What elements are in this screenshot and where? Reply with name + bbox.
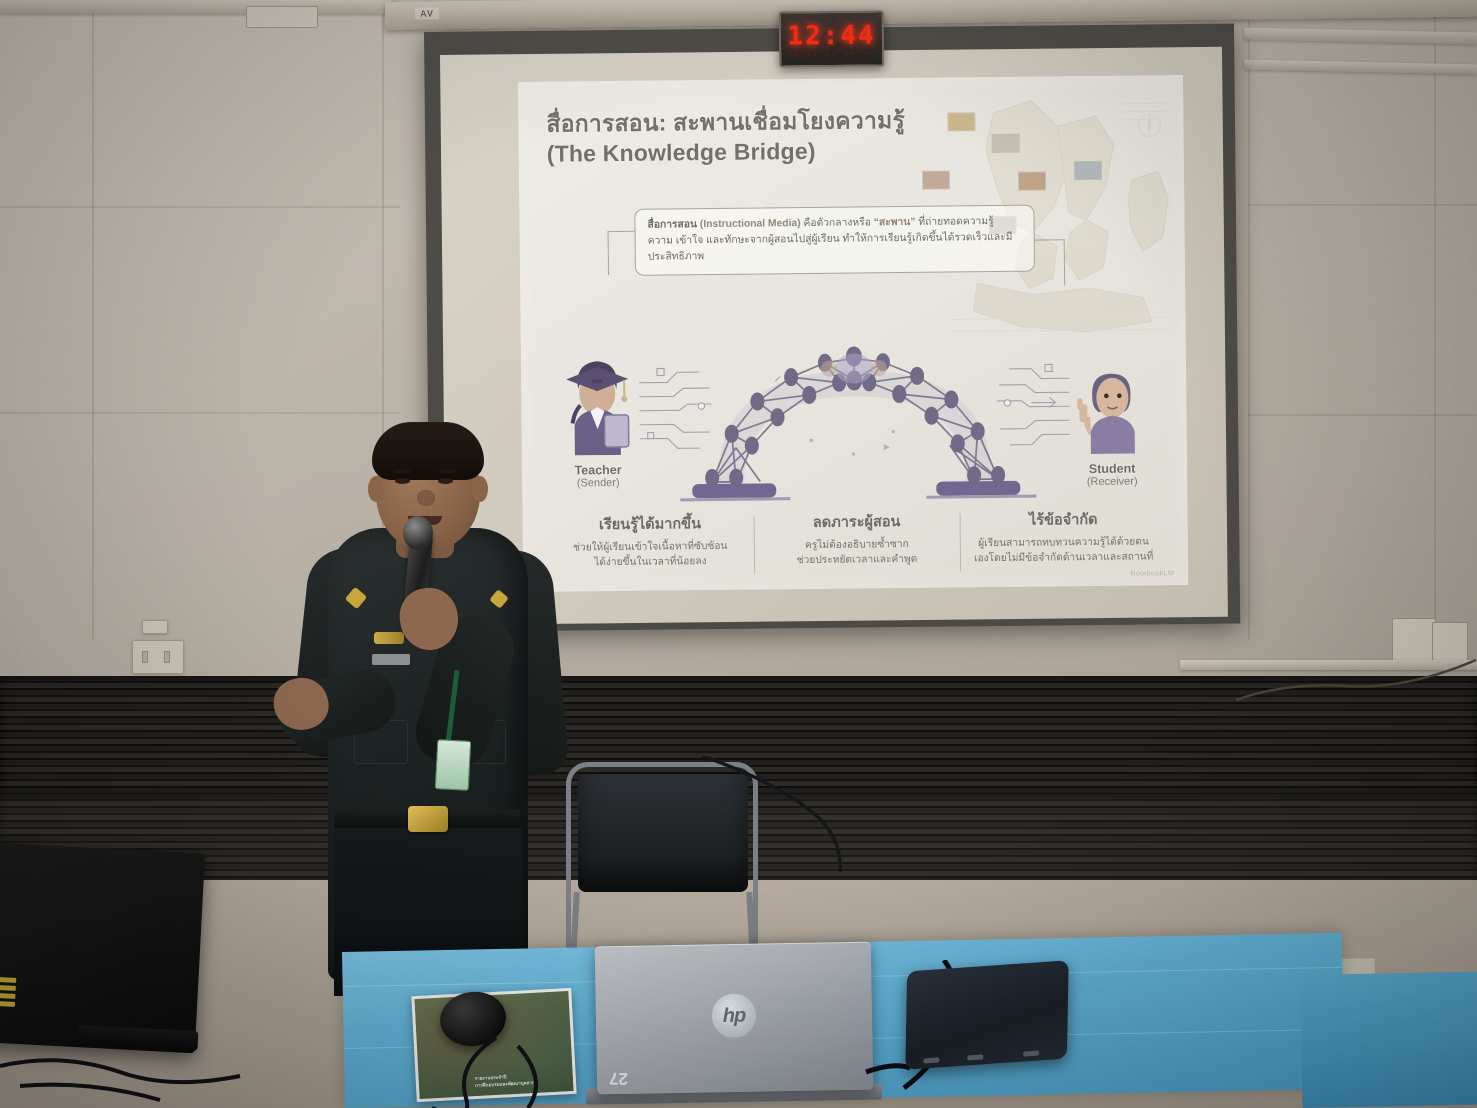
callout-term-en: (Instructional Media): [700, 218, 801, 230]
wall-cable: [1180, 646, 1477, 726]
monitor-control-buttons[interactable]: [0, 977, 20, 1018]
slide-watermark: NotebookLM: [1130, 570, 1174, 577]
wall-mount-box: [246, 6, 318, 28]
laptop-asset-number: 27: [609, 1068, 628, 1088]
hp-logo-icon: hp: [712, 993, 757, 1038]
benefit-desc-line2: ได้ง่ายขึ้นในเวลาที่น้อยลง: [553, 554, 748, 571]
benefit-item: ลดภาระผู้สอน ครูไม่ต้องอธิบายซ้ำซาก ช่วย…: [753, 509, 960, 569]
definition-callout: สื่อการสอน (Instructional Media) คือตัวก…: [634, 205, 1035, 276]
laptop-lid[interactable]: hp 27: [595, 942, 874, 1095]
student-actor: Student (Receiver): [1063, 361, 1160, 488]
tablet-device[interactable]: [905, 960, 1068, 1070]
slide-title: สื่อการสอน: สะพานเชื่อมโยงความรู้ (The K…: [546, 105, 967, 169]
wall-seam: [1434, 0, 1436, 640]
callout-line2: เข้าใจ และทักษะจากผู้สอนไปสู่ผู้เรียน ทำ…: [648, 232, 1013, 263]
benefit-title: เรียนรู้ได้มากขึ้น: [553, 512, 748, 537]
knowledge-bridge-graphic: [639, 318, 1071, 502]
presentation-room-photo: AV: [0, 0, 1477, 1108]
network-bridge-diagram: [639, 318, 1071, 502]
id-badge: [435, 739, 472, 791]
bridge-pedestal-left: [692, 483, 776, 498]
flag-chip: [1075, 162, 1101, 179]
belt-buckle: [408, 806, 448, 832]
benefit-desc-line2: เองโดยไม่มีข้อจำกัดด้านเวลาและสถานที่: [966, 550, 1161, 567]
flag-chip: [923, 171, 949, 188]
wall-switch-plate[interactable]: [142, 620, 168, 634]
callout-lead: สื่อการสอน: [647, 219, 697, 231]
wall-seam: [0, 412, 400, 414]
slide-title-thai: สื่อการสอน: สะพานเชื่อมโยงความรู้: [546, 105, 966, 139]
presenter-ear-left: [368, 476, 384, 502]
wall-seam: [1248, 0, 1250, 640]
slide-title-english: (The Knowledge Bridge): [547, 135, 967, 169]
bridge-pedestal-right: [936, 481, 1020, 496]
presenter-ear-right: [472, 476, 488, 502]
callout-quote: “สะพาน”: [874, 217, 916, 228]
circuit-traces-left: [639, 368, 712, 449]
wall-seam: [0, 206, 400, 208]
benefit-item: ไร้ข้อจำกัด ผู้เรียนสามารถทบทวนความรู้ได…: [960, 507, 1167, 567]
circuit-traces-right: [997, 364, 1070, 445]
wall-seam: [1248, 204, 1477, 206]
benefits-row: เรียนรู้ได้มากขึ้น ช่วยให้ผู้เรียนเข้าใจ…: [547, 507, 1168, 571]
clock-secondary-display: · ·· ·· ·· ·: [781, 50, 882, 59]
presenter: [276, 420, 568, 980]
benefit-desc-line1: ช่วยให้ผู้เรียนเข้าใจเนื้อหาที่ซับซ้อน: [553, 539, 748, 556]
led-wall-clock: 12:44 · ·· ·· ·· ·: [779, 10, 885, 67]
callout-connector-left: [608, 231, 636, 233]
wall-seam: [92, 0, 94, 640]
callout-connector-left-vertical: [608, 231, 610, 275]
callout-mid: คือตัวกลางหรือ: [803, 217, 871, 229]
tablet-port: [923, 1057, 939, 1063]
clock-time-display: 12:44: [781, 20, 882, 51]
benefit-desc-line2: ช่วยประหยัดเวลาและคำพูด: [760, 552, 955, 569]
presenter-eye-left: [395, 478, 410, 484]
uniform-badge: [372, 654, 410, 665]
benefit-title: ไร้ข้อจำกัด: [966, 507, 1161, 532]
microphone-head-icon: [403, 516, 433, 550]
av-brand-label: AV: [415, 7, 439, 19]
presenter-eye-right: [438, 478, 453, 484]
wall-outlet-plate[interactable]: [132, 640, 184, 674]
wall-seam: [1248, 414, 1477, 416]
student-sublabel: (Receiver): [1064, 475, 1160, 488]
presenter-nose: [417, 490, 435, 506]
tablet-port: [1023, 1050, 1039, 1056]
flag-chip: [1019, 172, 1045, 189]
desk-monitor[interactable]: [0, 843, 205, 1054]
callout-connector-right: [1035, 239, 1065, 241]
benefit-title: ลดภาระผู้สอน: [759, 509, 954, 534]
tablet-port: [967, 1054, 983, 1060]
overhead-cable: [700, 756, 920, 956]
uniform-wing-badge: [374, 632, 404, 644]
presentation-table-right: [1300, 972, 1477, 1108]
student-person-icon: [1068, 361, 1155, 454]
presenter-eyebrow-right: [438, 470, 455, 473]
benefit-item: เรียนรู้ได้มากขึ้น ช่วยให้ผู้เรียนเข้าใจ…: [547, 512, 754, 572]
monitor-cables: [0, 1040, 300, 1108]
presenter-eyebrow-left: [394, 470, 411, 473]
student-label: Student: [1064, 461, 1160, 476]
flag-chip: [993, 135, 1019, 152]
ceiling-conduit: [0, 0, 392, 14]
projected-slide: สื่อการสอน: สะพานเชื่อมโยงความรู้ (The K…: [518, 75, 1188, 592]
presenter-hair: [372, 422, 484, 480]
